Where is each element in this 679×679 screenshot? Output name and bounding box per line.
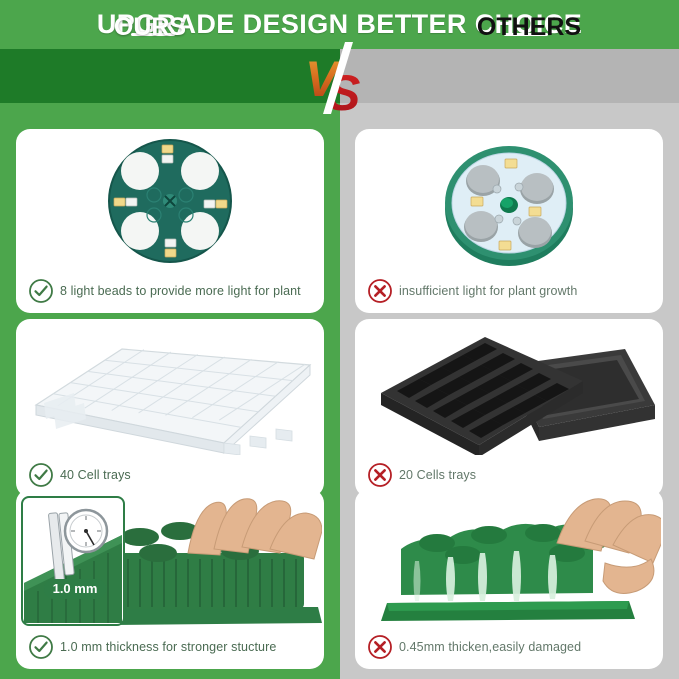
others-caption-thickness: 0.45mm thicken,easily damaged: [357, 627, 661, 667]
ours-card-led: 8 light beads to provide more light for …: [16, 129, 324, 313]
header-ours-band: [0, 49, 340, 103]
others-caption-led: insufficient light for plant growth: [357, 271, 661, 311]
ours-card-tray: 40 Cell trays: [16, 319, 324, 497]
ours-caption-thickness: 1.0 mm thickness for stronger stucture: [18, 627, 322, 667]
others-card-thickness: 0.45mm thicken,easily damaged: [355, 489, 663, 669]
check-circle-icon: [28, 634, 54, 660]
header-under-green: [0, 103, 340, 113]
others-card-tray: 20 Cells trays: [355, 319, 663, 497]
header-others-band: [340, 49, 679, 103]
others-caption-thickness-text: 0.45mm thicken,easily damaged: [399, 640, 581, 654]
ours-caption-tray-text: 40 Cell trays: [60, 468, 131, 482]
black-plastic-seed-tray-with-base: [357, 321, 661, 455]
vs-badge-icon: V S: [303, 42, 369, 114]
others-caption-led-text: insufficient light for plant growth: [399, 284, 577, 298]
comparison-infographic: UPGRADE DESIGN BETTER CHOICE OURS OTHERS: [0, 0, 679, 679]
cross-circle-icon: [367, 278, 393, 304]
check-circle-icon: [28, 278, 54, 304]
header-under-gray: [340, 103, 679, 113]
others-card-led: insufficient light for plant growth: [355, 129, 663, 313]
led-light-board-white-disc: [357, 131, 661, 271]
others-caption-tray-text: 20 Cells trays: [399, 468, 476, 482]
led-light-board-green-pcb: [18, 131, 322, 271]
ours-caption-led-text: 8 light beads to provide more light for …: [60, 284, 301, 298]
ours-label: OURS: [0, 0, 300, 54]
others-column: insufficient light for plant growth: [340, 113, 679, 679]
hand-crushing-thin-green-tray: [357, 491, 661, 627]
ours-caption-thickness-text: 1.0 mm thickness for stronger stucture: [60, 640, 276, 654]
ours-column: 8 light beads to provide more light for …: [0, 113, 340, 679]
ours-card-thickness: 1.0 mm 1.0 mm thickness for stronger stu…: [16, 489, 324, 669]
check-circle-icon: [28, 462, 54, 488]
clear-plastic-seed-tray: [18, 321, 322, 455]
ours-caption-led: 8 light beads to provide more light for …: [18, 271, 322, 311]
cross-circle-icon: [367, 634, 393, 660]
others-label: OTHERS: [379, 0, 679, 54]
cross-circle-icon: [367, 462, 393, 488]
thickness-badge-text: 1.0 mm: [53, 581, 98, 596]
hand-pressing-sturdy-green-tray: 1.0 mm: [18, 491, 322, 627]
